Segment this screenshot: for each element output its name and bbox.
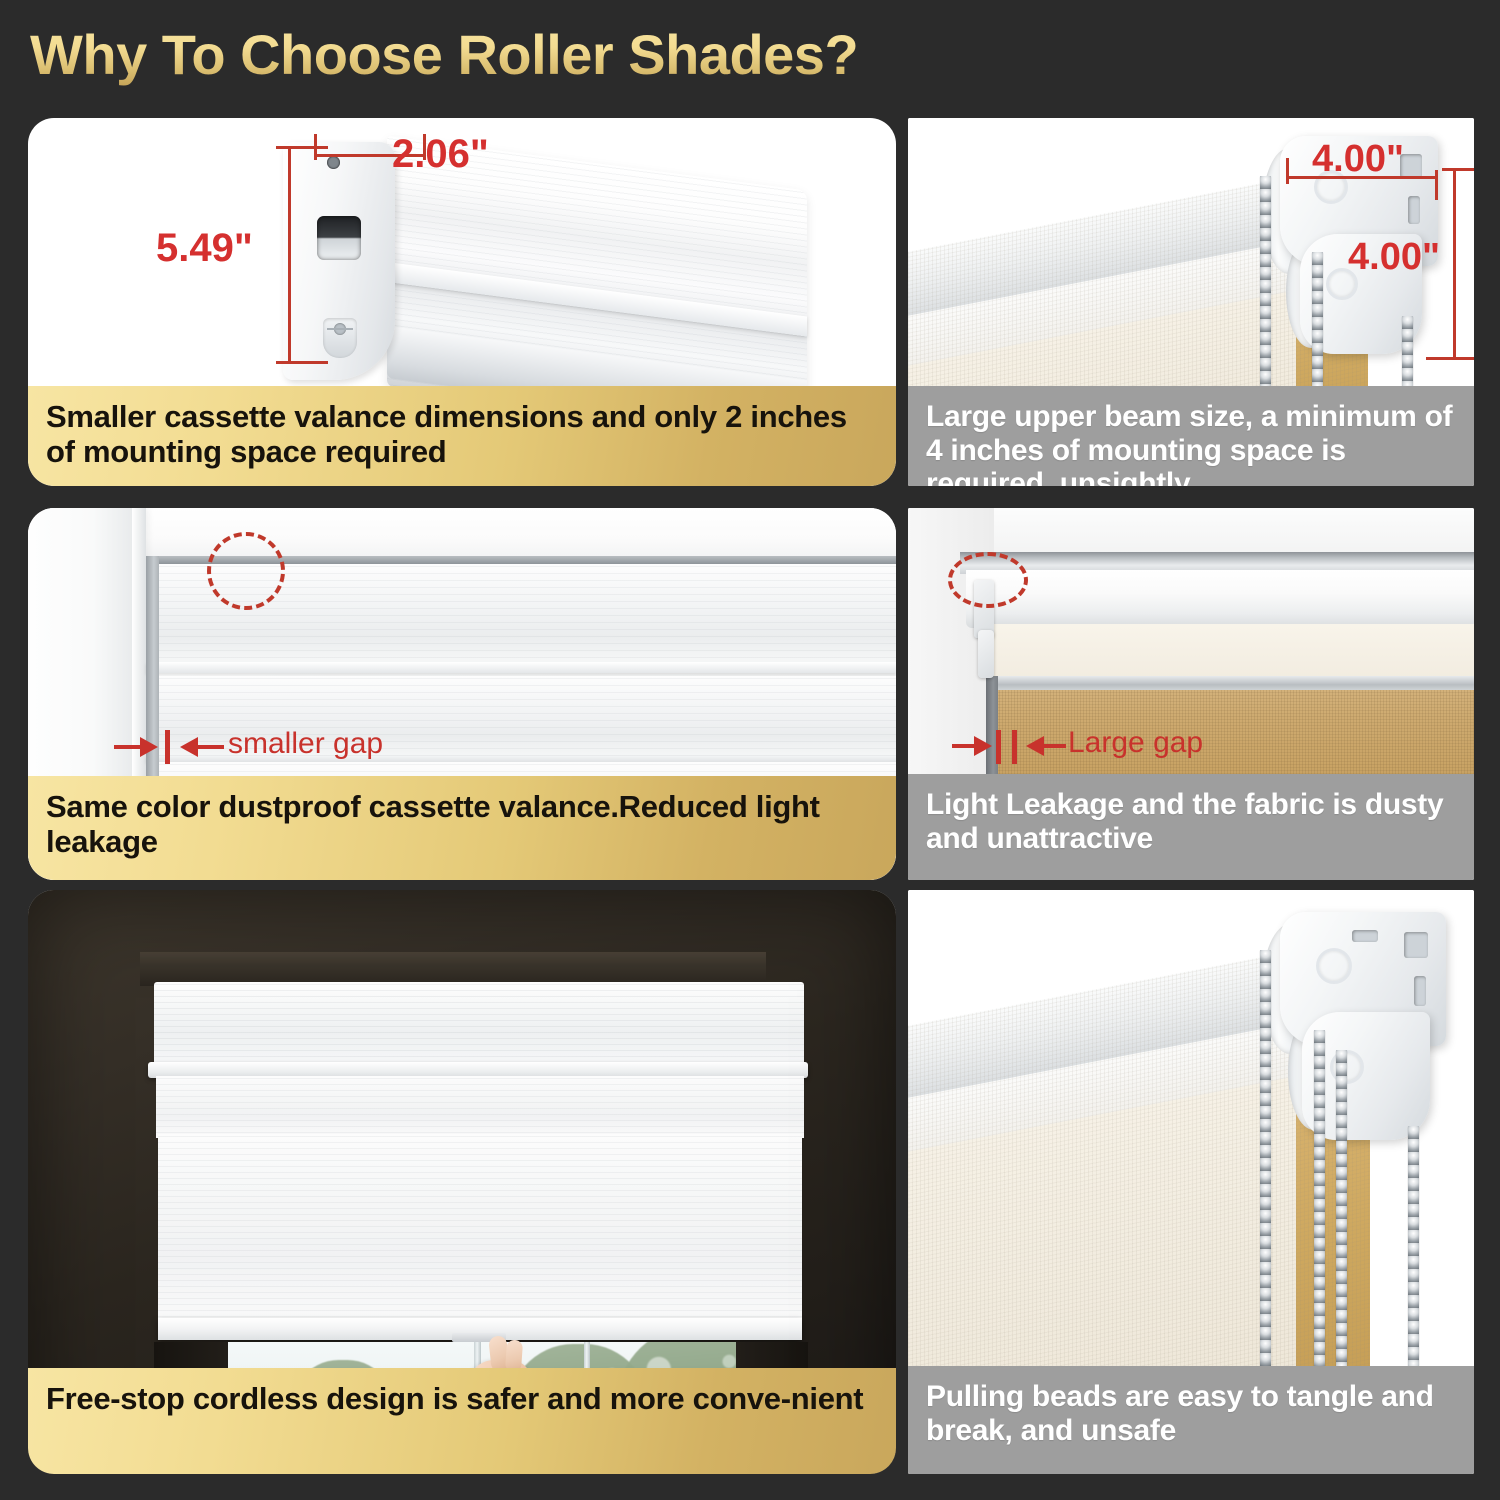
headrail-body (966, 570, 1474, 628)
cassette-valance (154, 982, 804, 1066)
end-cap-top-screw (327, 156, 340, 169)
page-title: Why To Choose Roller Shades? (30, 22, 858, 87)
bracket-notch (1408, 196, 1420, 224)
bead-chain (1336, 1050, 1347, 1368)
bracket-embossed-arrow (1316, 948, 1352, 984)
gap-callout-label: Large gap (1068, 726, 1203, 760)
width-dimension-tick-left (1286, 158, 1289, 184)
cassette-valance-illustration (283, 136, 803, 401)
panel-caption: Light Leakage and the fabric is dusty an… (908, 774, 1474, 880)
end-cap-slot (317, 216, 361, 260)
panel-caption: Large upper beam size, a minimum of 4 in… (908, 386, 1474, 486)
height-dimension-tick-bottom (276, 361, 328, 364)
bracket-piece-lower (978, 630, 994, 678)
height-dimension-line (1453, 168, 1456, 360)
width-dimension-label: 4.00" (1312, 138, 1404, 181)
height-dimension-tick-top (1442, 168, 1474, 171)
panel-dustproof-valance: smaller gap Same color dustproof cassett… (28, 508, 896, 880)
gap-arrow-left (180, 737, 198, 757)
panel-caption: Free-stop cordless design is safer and m… (28, 1368, 896, 1474)
gap-arrow-right (974, 736, 992, 756)
cream-fabric-band (986, 624, 1474, 680)
panel-pulling-beads: Pulling beads are easy to tangle and bre… (908, 890, 1474, 1474)
panel-caption: Pulling beads are easy to tangle and bre… (908, 1366, 1474, 1474)
bead-chain (1408, 1126, 1419, 1368)
bead-chain (1314, 1030, 1325, 1368)
panel-caption: Same color dustproof cassette valance.Re… (28, 776, 896, 880)
height-dimension-tick-bottom (1426, 357, 1474, 360)
gap-arrow-stem-right (198, 745, 224, 749)
bracket-notch (1352, 930, 1378, 942)
bracket-notch (1414, 976, 1426, 1006)
gap-marker-left (996, 730, 1001, 764)
bead-chain (1260, 950, 1271, 1368)
shade-fabric-main (158, 1134, 802, 1324)
gap-marker (165, 730, 170, 764)
gap-arrow-right (140, 737, 158, 757)
panel-large-upper-beam: 4.00" 4.00" Large upper beam size, a min… (908, 118, 1474, 486)
height-dimension-label: 5.49" (156, 226, 253, 271)
panel-cordless-design: Free-stop cordless design is safer and m… (28, 890, 896, 1474)
valance-bottom-lip (146, 662, 896, 673)
window-recess-top (140, 952, 766, 986)
gap-marker-right (1012, 730, 1017, 764)
width-dimension-tick-right (1435, 170, 1438, 200)
height-dimension-tick-top (276, 146, 328, 149)
panel-caption: Smaller cassette valance dimensions and … (28, 386, 896, 486)
highlight-circle (948, 552, 1028, 608)
gap-arrow-stem-right (1044, 744, 1066, 748)
highlight-circle (207, 532, 285, 610)
height-dimension-line (288, 146, 291, 364)
panel-light-leakage: Large gap Light Leakage and the fabric i… (908, 508, 1474, 880)
gap-arrow-left (1026, 736, 1044, 756)
height-dimension-label: 4.00" (1348, 236, 1440, 279)
shade-fabric-band (156, 1076, 804, 1138)
end-cap-screw (323, 318, 357, 358)
gap-callout-label: smaller gap (228, 727, 383, 761)
valance-end-cap (283, 142, 395, 380)
panel-cassette-dimensions: 2.06" 5.49" Smaller cassette valance dim… (28, 118, 896, 486)
width-dimension-label: 2.06" (392, 132, 489, 177)
bracket-notch (1404, 932, 1428, 958)
